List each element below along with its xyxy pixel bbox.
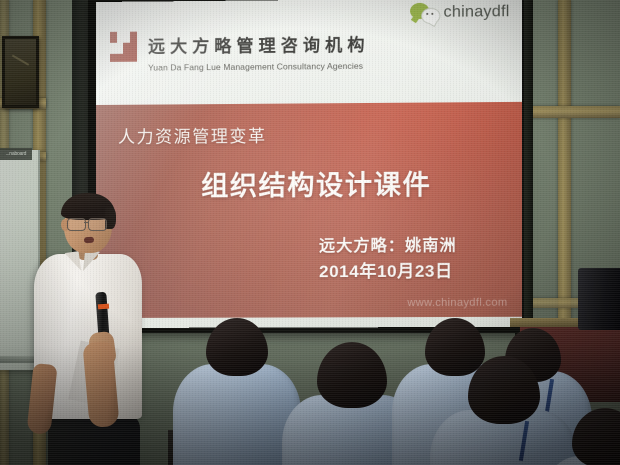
scene-vignette [0, 0, 620, 465]
presentation-photo-scene: ...naboard chinaydfl 远大方 [0, 0, 620, 465]
